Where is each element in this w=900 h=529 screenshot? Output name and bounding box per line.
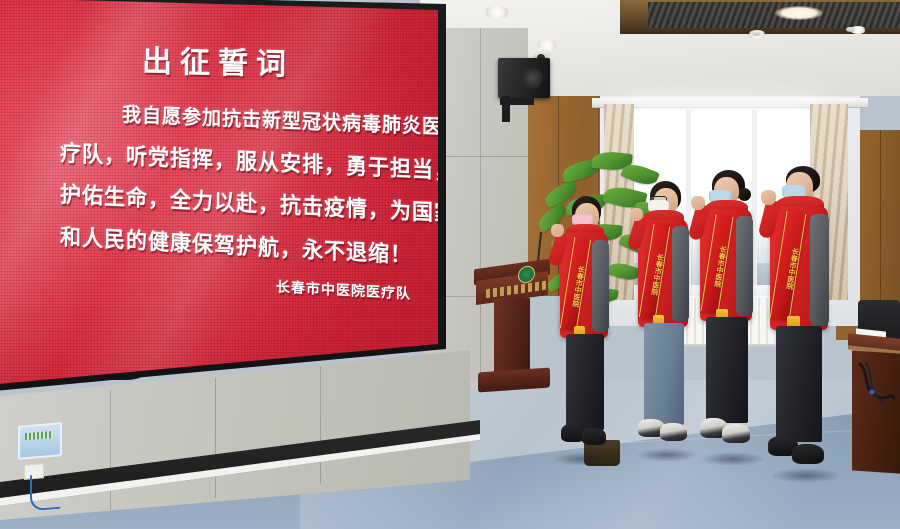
trousers (706, 317, 748, 423)
raised-fist (761, 190, 776, 205)
network-panel-box (18, 422, 62, 460)
person-shadow (636, 448, 698, 462)
led-screen-surface: 出征誓词 我自愿参加抗击新型冠状病毒肺炎医 疗队，听党指挥，服从安排，勇于担当，… (0, 0, 438, 386)
person-shadow (770, 468, 842, 483)
jeans (644, 323, 684, 425)
oath-line-4: 和人民的健康保驾护航，永不退缩！ (60, 220, 412, 270)
shoe (722, 424, 750, 443)
ceiling-sensor-icon (846, 27, 855, 32)
desk-cables (856, 362, 896, 408)
wall-speaker (498, 58, 550, 98)
hair-bun (738, 188, 751, 201)
oath-line-3: 护佑生命，全力以赴，抗击疫情，为国家 (60, 177, 456, 228)
oath-signature: 长春市中医院医疗队 (276, 276, 411, 303)
shoe (582, 428, 606, 445)
ceiling-vent (648, 2, 900, 28)
led-display-screen: 出征誓词 我自愿参加抗击新型冠状病毒肺炎医 疗队，听党指挥，服从安排，勇于担当，… (0, 0, 446, 394)
downlight-icon (484, 6, 510, 19)
trousers (566, 334, 604, 430)
podium-base (478, 367, 550, 392)
person-shadow (552, 452, 614, 466)
shoe (792, 444, 824, 464)
jacket-gray-panel (810, 214, 829, 326)
oath-line-1: 我自愿参加抗击新型冠状病毒肺炎医 (122, 99, 442, 140)
raised-fist (691, 196, 705, 210)
vent-light-glow (775, 6, 823, 20)
network-cable (30, 473, 60, 512)
oath-line-2: 疗队，听党指挥，服从安排，勇于担当， (60, 136, 456, 186)
person-shadow (700, 452, 766, 466)
jacket-gray-panel (592, 240, 609, 332)
jacket-gray-panel (736, 216, 753, 316)
oath-title: 出征誓词 (0, 33, 438, 86)
raised-fist (630, 208, 643, 221)
shoe (660, 423, 687, 441)
trousers (776, 326, 822, 442)
speaker-bracket-post (502, 96, 510, 122)
photo-scene: 出征誓词 我自愿参加抗击新型冠状病毒肺炎医 疗队，听党指挥，服从安排，勇于担当，… (0, 0, 900, 529)
led-screen-text: 出征誓词 我自愿参加抗击新型冠状病毒肺炎医 疗队，听党指挥，服从安排，勇于担当，… (0, 0, 438, 386)
ceiling-sensor-icon (752, 31, 761, 36)
raised-fist (551, 224, 564, 237)
jacket-gray-panel (672, 226, 689, 322)
podium-column (494, 298, 530, 376)
